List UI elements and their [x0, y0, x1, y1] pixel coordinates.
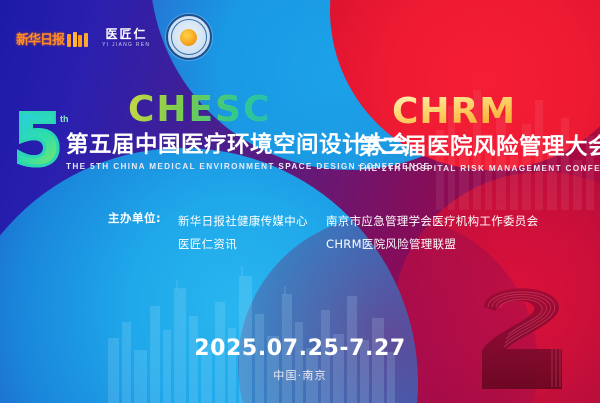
xinhua-daily-logo-bars: [67, 32, 88, 47]
left-conference-block: 5 th CHESC 第五届中国医疗环境空间设计大会 THE 5TH CHINA…: [0, 92, 358, 190]
xinhua-daily-logo-text: 新华日报: [16, 34, 64, 47]
event-location: 中国·南京: [0, 367, 600, 383]
organizer-item: CHRM医院风险管理联盟: [326, 233, 536, 256]
edition-numeral-5: 5: [13, 104, 61, 176]
organizers-column-b: 南京市应急管理学会医疗机构工作委员会 CHRM医院风险管理联盟: [326, 210, 536, 256]
right-conference-block: CHRM 第二届医院风险管理大会 THE 2TH HOSPITAL RISK M…: [358, 92, 600, 190]
yijiangren-logo-cn: 医匠仁: [106, 28, 148, 40]
sponsor-logo-row: 新华日报 医匠仁 YI JIANG REN: [16, 14, 212, 60]
organizer-item: 医匠仁资讯: [178, 233, 308, 256]
yijiangren-logo: 医匠仁 YI JIANG REN: [106, 28, 148, 47]
chesc-acronym: CHESC: [128, 92, 358, 128]
event-date: 2025.07.25-7.27: [0, 336, 600, 361]
left-conference-title-en: THE 5TH CHINA MEDICAL ENVIRONMENT SPACE …: [66, 162, 358, 171]
xinhua-daily-logo: 新华日报: [16, 27, 88, 47]
yijiangren-logo-en: YI JIANG REN: [102, 43, 150, 48]
association-emblem-icon: [166, 14, 212, 60]
right-conference-title-en: THE 2TH HOSPITAL RISK MANAGEMENT CONFERE…: [358, 164, 600, 173]
organizer-item: 南京市应急管理学会医疗机构工作委员会: [326, 210, 536, 233]
association-emblem-core: [180, 29, 197, 46]
event-date-block: 2025.07.25-7.27 中国·南京: [0, 336, 600, 383]
left-conference-title-cn: 第五届中国医疗环境空间设计大会: [66, 133, 358, 158]
organizer-item: 新华日报社健康传媒中心: [178, 210, 308, 233]
organizers-section: 主办单位: 新华日报社健康传媒中心 医匠仁资讯 南京市应急管理学会医疗机构工作委…: [0, 210, 600, 256]
chrm-acronym: CHRM: [392, 94, 600, 130]
conference-poster: 新华日报 医匠仁 YI JIANG REN 5 th CHESC 第五届中国医疗…: [0, 0, 600, 403]
organizers-column-a: 新华日报社健康传媒中心 医匠仁资讯: [178, 210, 308, 256]
right-conference-title-cn: 第二届医院风险管理大会: [358, 135, 600, 160]
conference-titles: 5 th CHESC 第五届中国医疗环境空间设计大会 THE 5TH CHINA…: [0, 92, 600, 190]
